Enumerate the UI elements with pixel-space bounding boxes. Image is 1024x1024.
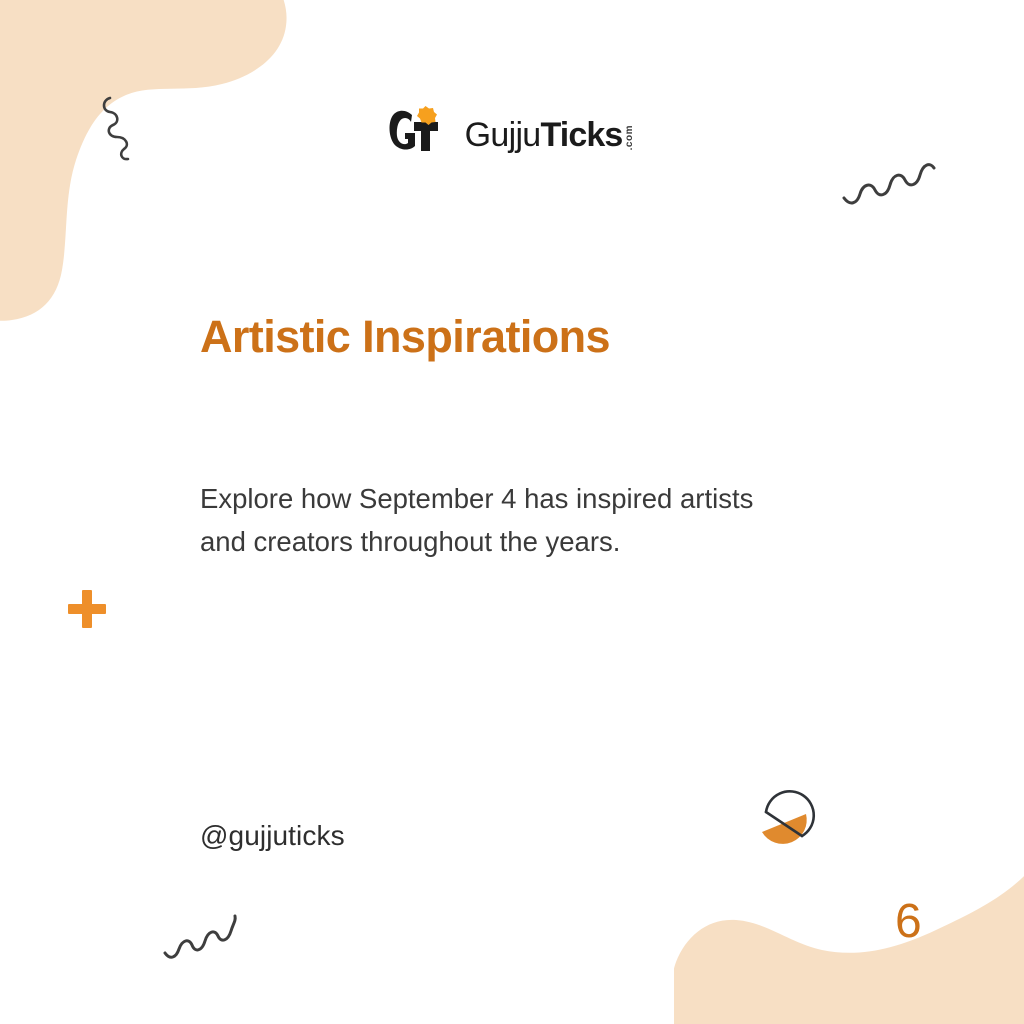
peach-blob-bottom-right: [674, 778, 1024, 1024]
brand-logo: Gujju Ticks .com: [0, 106, 1024, 154]
plus-icon: [66, 588, 108, 630]
page-title: Artistic Inspirations: [200, 312, 610, 362]
body-paragraph: Explore how September 4 has inspired art…: [200, 478, 806, 563]
social-handle: @gujjuticks: [200, 820, 345, 852]
diagonal-wave-squiggle-icon-bottom-left: [162, 898, 238, 960]
wordmark-bold-part: Ticks: [541, 118, 623, 152]
gt-monogram-icon: [389, 106, 455, 154]
page-number: 6: [895, 898, 922, 946]
social-post-slide: Gujju Ticks .com Artistic Inspirations E…: [0, 0, 1024, 1024]
wordmark-light-part: Gujju: [465, 118, 541, 152]
brand-wordmark: Gujju Ticks .com: [465, 118, 636, 152]
half-circle-split-icon: [758, 784, 820, 852]
wordmark-tld: .com: [625, 125, 635, 150]
peach-blob-top-left: [0, 0, 320, 334]
